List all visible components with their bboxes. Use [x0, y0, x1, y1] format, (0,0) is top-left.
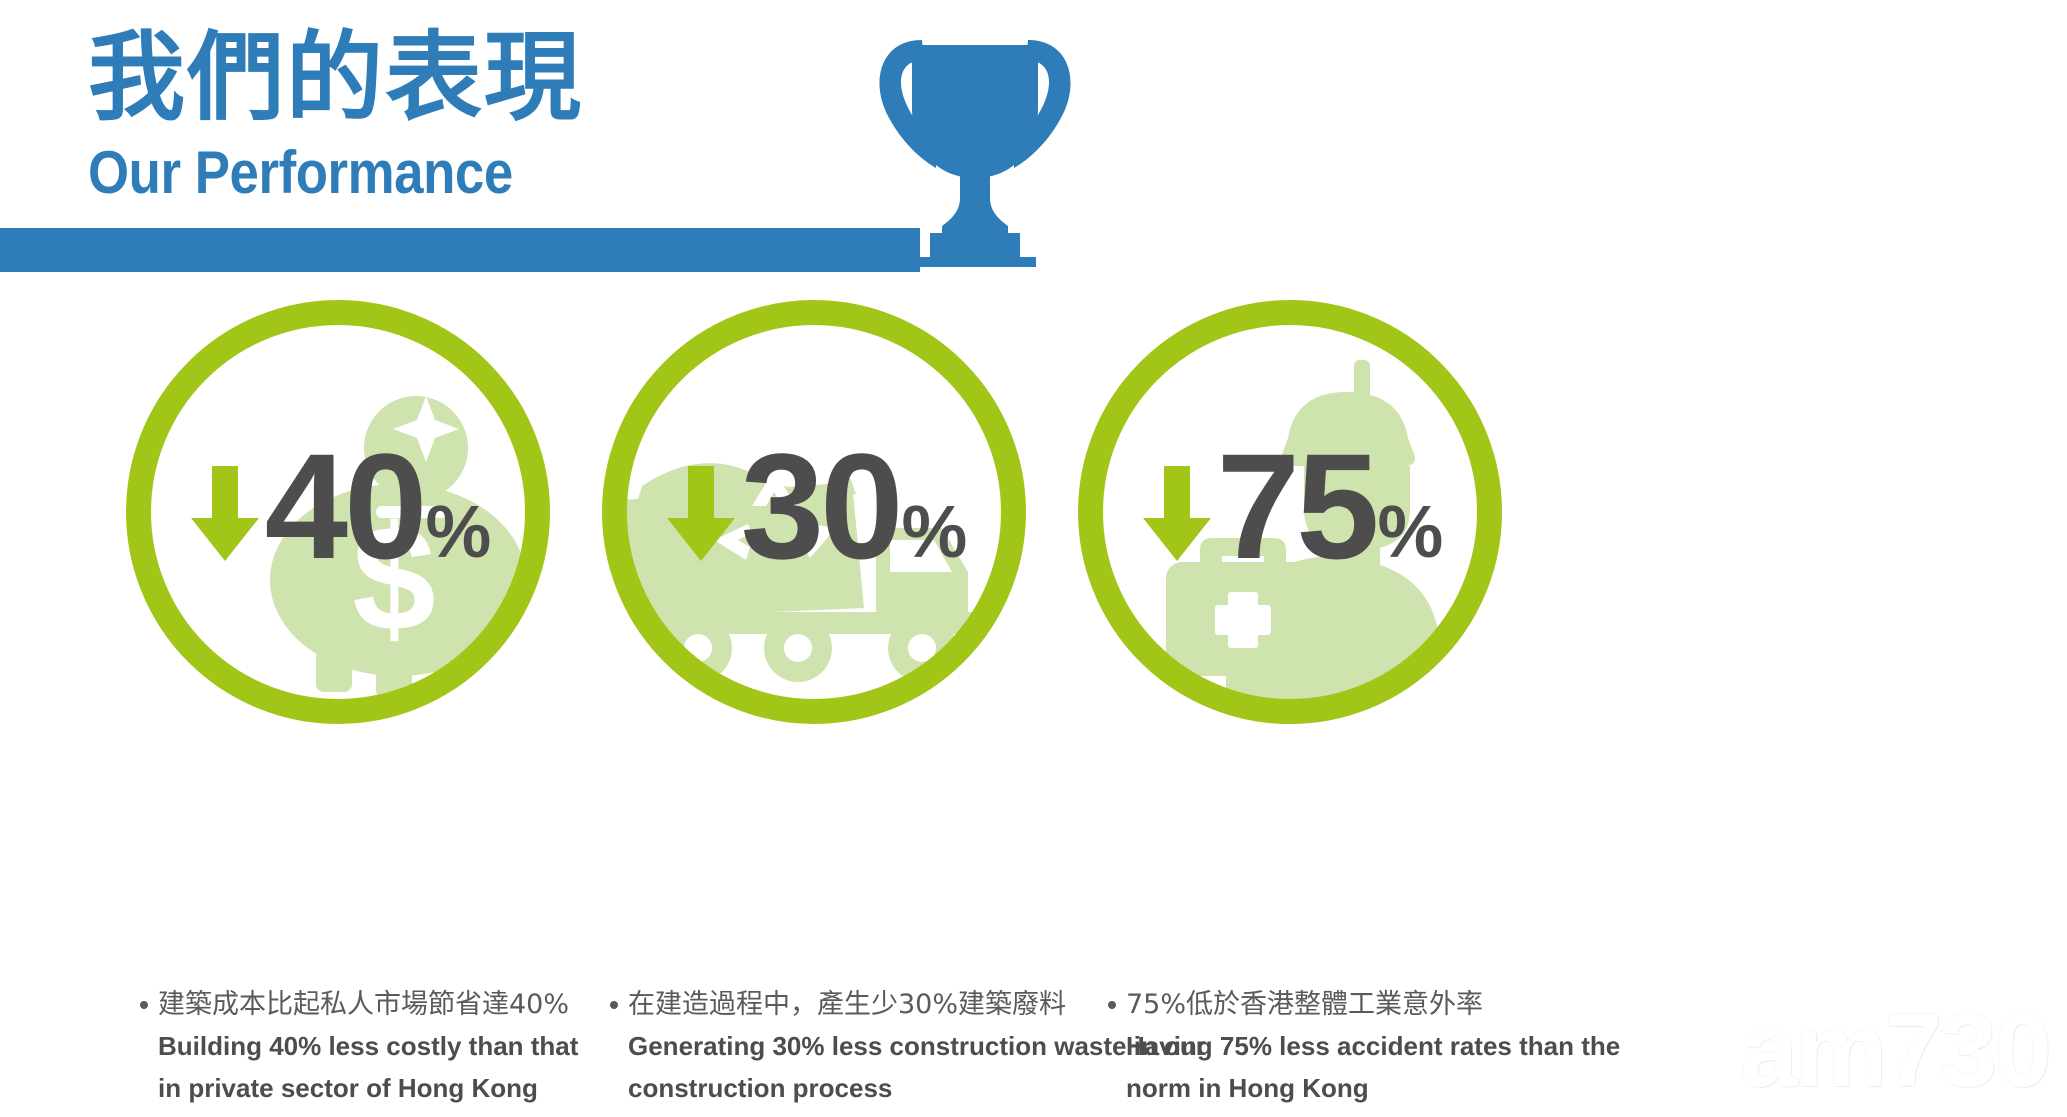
- caption-3: 75%低於香港整體工業意外率 Having 75% less accident …: [1108, 985, 1668, 1109]
- caption-3-zh: 75%低於香港整體工業意外率: [1126, 985, 1483, 1025]
- down-arrow-icon: [1143, 466, 1211, 561]
- caption-3-en-line2: norm in Hong Kong: [1126, 1067, 1668, 1109]
- stat-card-2: 30 %: [602, 300, 1026, 724]
- stat-content-3: 75 %: [1078, 300, 1502, 724]
- captions-row: 建築成本比起私人市場節省達40% Building 40% less costl…: [0, 985, 2067, 1117]
- stat-card-1: $ 40 %: [126, 300, 550, 724]
- page-title-en: Our Performance: [88, 140, 704, 206]
- header: 我們的表現 Our Performance: [0, 0, 2067, 290]
- down-arrow-icon: [667, 466, 735, 561]
- caption-2-en-line1: Generating 30% less construction waste i…: [628, 1025, 1170, 1067]
- page-title: 我們的表現 Our Performance: [88, 22, 788, 206]
- caption-3-en-line1: Having 75% less accident rates than the: [1126, 1025, 1668, 1067]
- stat-content-1: 40 %: [126, 300, 550, 724]
- down-arrow-icon: [191, 466, 259, 561]
- stats-row: $ 40 %: [0, 300, 2067, 740]
- caption-1-zh: 建築成本比起私人市場節省達40%: [158, 985, 569, 1025]
- stat-content-2: 30 %: [602, 300, 1026, 724]
- stat-number-2: 30: [741, 431, 900, 581]
- bullet-icon: [140, 1001, 148, 1009]
- bullet-icon: [1108, 1001, 1116, 1009]
- stat-number-1: 40: [265, 431, 424, 581]
- stat-percent-1: %: [426, 495, 492, 581]
- bullet-icon: [610, 1001, 618, 1009]
- page-title-zh: 我們的表現: [88, 22, 788, 134]
- stat-number-3: 75: [1217, 431, 1376, 581]
- stat-card-3: 75 %: [1078, 300, 1502, 724]
- header-blue-bar: [0, 228, 920, 272]
- caption-2-zh: 在建造過程中，產生少30%建築廢料: [628, 985, 1066, 1025]
- stat-percent-3: %: [1378, 495, 1444, 581]
- caption-2-en-line2: construction process: [628, 1067, 1170, 1109]
- caption-2: 在建造過程中，產生少30%建築廢料 Generating 30% less co…: [610, 985, 1170, 1109]
- stat-percent-2: %: [902, 495, 968, 581]
